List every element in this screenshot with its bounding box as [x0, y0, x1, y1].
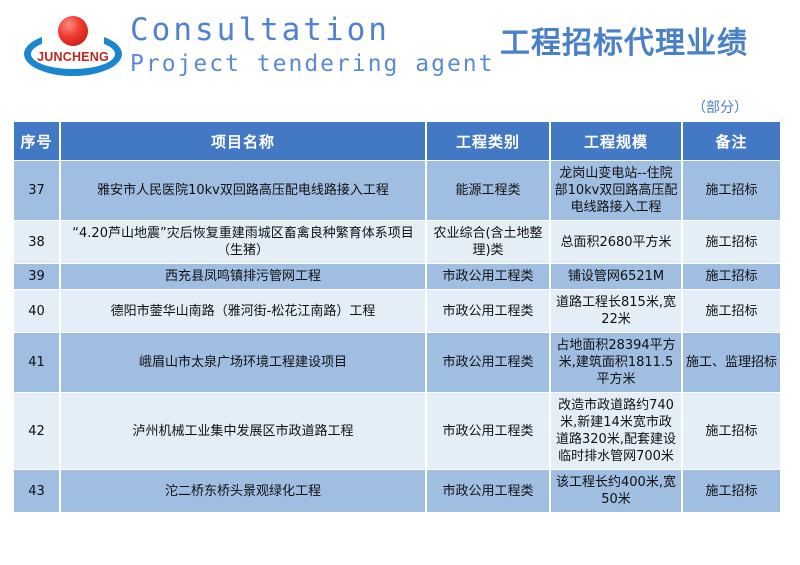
cell-category: 市政公用工程类	[427, 264, 549, 289]
cell-name: 沱二桥东桥头景观绿化工程	[61, 470, 425, 512]
cell-name: 德阳市蓥华山南路（雅河街-松花江南路）工程	[61, 290, 425, 332]
cell-scale: 铺设管网6521M	[551, 264, 681, 289]
cell-scale: 占地面积28394平方米,建筑面积1811.5平方米	[551, 333, 681, 392]
cell-name: “4.20芦山地震”灾后恢复重建雨城区畜禽良种繁育体系项目（生猪）	[61, 221, 425, 263]
cell-note: 施工招标	[683, 161, 780, 220]
cell-category: 市政公用工程类	[427, 290, 549, 332]
cell-category: 市政公用工程类	[427, 470, 549, 512]
partial-note: （部分）	[692, 97, 748, 117]
cell-seq: 39	[14, 264, 59, 289]
cell-note: 施工、监理招标	[683, 333, 780, 392]
table-row: 39 西充县凤鸣镇排污管网工程 市政公用工程类 铺设管网6521M 施工招标	[14, 264, 780, 289]
cell-note: 施工招标	[683, 264, 780, 289]
column-header-scale: 工程规模	[551, 122, 681, 160]
table-row: 38 “4.20芦山地震”灾后恢复重建雨城区畜禽良种繁育体系项目（生猪） 农业综…	[14, 221, 780, 263]
title-english-main: Consultation	[130, 12, 495, 48]
cell-name: 西充县凤鸣镇排污管网工程	[61, 264, 425, 289]
table-header-row: 序号 项目名称 工程类别 工程规模 备注	[14, 122, 780, 160]
table-row: 41 峨眉山市太泉广场环境工程建设项目 市政公用工程类 占地面积28394平方米…	[14, 333, 780, 392]
column-header-seq: 序号	[14, 122, 59, 160]
performance-table: 序号 项目名称 工程类别 工程规模 备注 37 雅安市人民医院10kv双回路高压…	[12, 121, 782, 513]
cell-scale: 改造市政道路约740米,新建14米宽市政道路320米,配套建设临时排水管网700…	[551, 393, 681, 469]
table-row: 40 德阳市蓥华山南路（雅河街-松花江南路）工程 市政公用工程类 道路工程长81…	[14, 290, 780, 332]
cell-seq: 41	[14, 333, 59, 392]
cell-seq: 40	[14, 290, 59, 332]
cell-note: 施工招标	[683, 470, 780, 512]
cell-note: 施工招标	[683, 393, 780, 469]
table-row: 42 泸州机械工业集中发展区市政道路工程 市政公用工程类 改造市政道路约740米…	[14, 393, 780, 469]
cell-category: 能源工程类	[427, 161, 549, 220]
cell-category: 农业综合(含土地整理)类	[427, 221, 549, 263]
cell-scale: 该工程长约400米,宽50米	[551, 470, 681, 512]
cell-seq: 43	[14, 470, 59, 512]
cell-seq: 42	[14, 393, 59, 469]
cell-seq: 38	[14, 221, 59, 263]
performance-table-wrap: 序号 项目名称 工程类别 工程规模 备注 37 雅安市人民医院10kv双回路高压…	[12, 121, 778, 513]
title-english-block: Consultation Project tendering agent	[130, 12, 495, 80]
page-header: JUNCHENG Consultation Project tendering …	[0, 0, 800, 92]
cell-name: 峨眉山市太泉广场环境工程建设项目	[61, 333, 425, 392]
table-row: 37 雅安市人民医院10kv双回路高压配电线路接入工程 能源工程类 龙岗山变电站…	[14, 161, 780, 220]
juncheng-logo: JUNCHENG	[18, 12, 128, 80]
cell-note: 施工招标	[683, 290, 780, 332]
cell-scale: 总面积2680平方米	[551, 221, 681, 263]
cell-name: 雅安市人民医院10kv双回路高压配电线路接入工程	[61, 161, 425, 220]
column-header-note: 备注	[683, 122, 780, 160]
title-english-sub: Project tendering agent	[130, 48, 495, 80]
cell-name: 泸州机械工业集中发展区市政道路工程	[61, 393, 425, 469]
page-title: 工程招标代理业绩	[500, 18, 748, 62]
cell-category: 市政公用工程类	[427, 393, 549, 469]
column-header-category: 工程类别	[427, 122, 549, 160]
cell-scale: 道路工程长815米,宽22米	[551, 290, 681, 332]
cell-scale: 龙岗山变电站--住院部10kv双回路高压配电线路接入工程	[551, 161, 681, 220]
cell-category: 市政公用工程类	[427, 333, 549, 392]
cell-seq: 37	[14, 161, 59, 220]
column-header-name: 项目名称	[61, 122, 425, 160]
logo-sphere-icon	[58, 16, 88, 46]
table-row: 43 沱二桥东桥头景观绿化工程 市政公用工程类 该工程长约400米,宽50米 施…	[14, 470, 780, 512]
logo-wordmark: JUNCHENG	[18, 50, 128, 64]
cell-note: 施工招标	[683, 221, 780, 263]
